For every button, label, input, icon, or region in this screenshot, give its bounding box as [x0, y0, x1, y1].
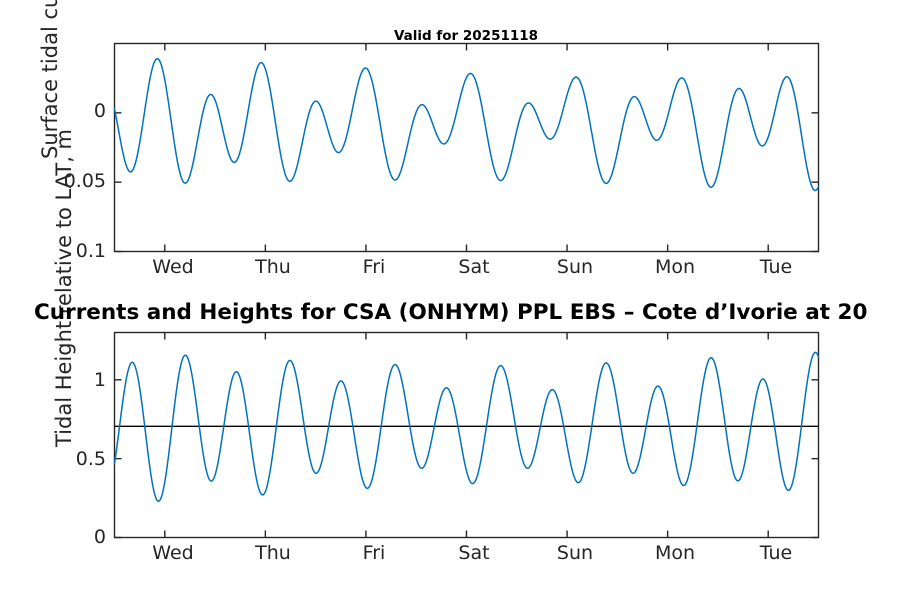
top-plot-box — [115, 44, 819, 252]
current-speed-curve — [115, 59, 819, 191]
bottom-xtick-label-tue: Tue — [726, 542, 826, 564]
bottom-xtick-label-sun: Sun — [525, 542, 625, 564]
top-xtick-label-tue: Tue — [726, 256, 826, 278]
top-xtick-label-wed: Wed — [123, 256, 223, 278]
tidal-height-curve — [115, 352, 819, 501]
top-ytick-label-2: 0 — [38, 100, 106, 122]
bottom-ytick-label-2: 1 — [48, 369, 106, 391]
top-ytick-label-0: 0.1 — [48, 240, 106, 262]
top-xtick-label-fri: Fri — [324, 256, 424, 278]
bottom-xtick-label-wed: Wed — [123, 542, 223, 564]
top-xtick-label-sat: Sat — [424, 256, 524, 278]
bottom-plot-box — [115, 333, 819, 538]
bottom-ytick-label-1: 0.5 — [28, 448, 106, 470]
bottom-axis-ticks — [115, 333, 819, 538]
top-xtick-label-sun: Sun — [525, 256, 625, 278]
top-ytick-label-1: 0.05 — [28, 170, 106, 192]
bottom-ytick-label-0: 0 — [48, 526, 106, 548]
top-xtick-label-mon: Mon — [625, 256, 725, 278]
top-panel-subtitle: Valid for 20251118 — [314, 28, 618, 44]
tidal-figure: Surface tidal current speed, kn Tidal He… — [0, 0, 900, 600]
bottom-xtick-label-mon: Mon — [625, 542, 725, 564]
bottom-xtick-label-fri: Fri — [324, 542, 424, 564]
bottom-xtick-label-sat: Sat — [424, 542, 524, 564]
top-xtick-label-thu: Thu — [223, 256, 323, 278]
top-axis-ticks — [115, 44, 819, 252]
bottom-xtick-label-thu: Thu — [223, 542, 323, 564]
figure-title: Currents and Heights for CSA (ONHYM) PPL… — [34, 300, 867, 325]
